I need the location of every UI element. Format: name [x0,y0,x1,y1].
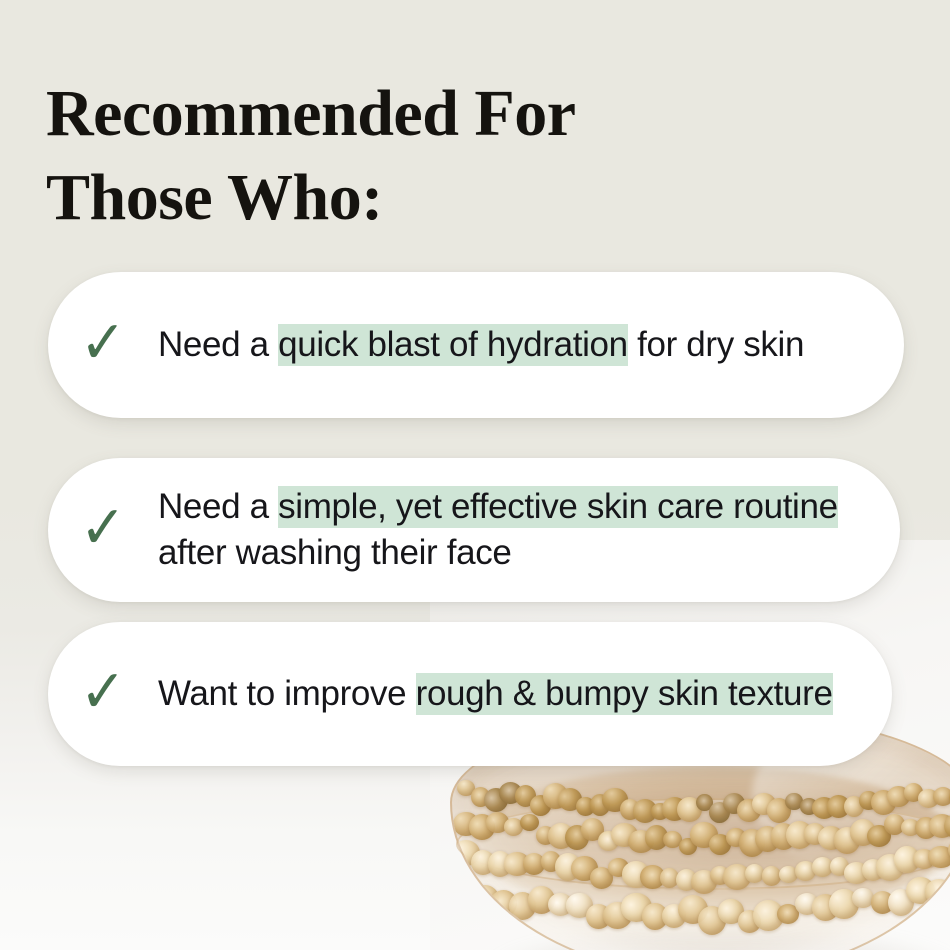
plain-phrase: Need a [158,325,278,364]
page-title-line-1: Recommended For [46,72,746,156]
benefit-card: ✓ Want to improve rough & bumpy skin tex… [48,622,892,766]
soybean [933,787,950,806]
check-mark-icon: ✓ [52,313,153,373]
plain-phrase: Need a [158,487,278,526]
plain-phrase: after washing their face [158,533,511,572]
highlighted-phrase: rough & bumpy skin texture [416,673,833,715]
benefit-text: Need a simple, yet effective skin care r… [158,484,900,576]
soybean [928,846,950,869]
check-mark-icon: ✓ [52,498,153,558]
plain-phrase: for dry skin [628,325,804,364]
benefit-card: ✓ Need a quick blast of hydration for dr… [48,272,904,418]
benefit-text: Need a quick blast of hydration for dry … [158,322,904,368]
page-title: Recommended For Those Who: [46,72,746,240]
plain-phrase: Want to improve [158,674,416,713]
highlighted-phrase: simple, yet effective skin care routine [278,486,838,528]
page-title-line-2: Those Who: [46,156,746,240]
highlighted-phrase: quick blast of hydration [278,324,628,366]
benefit-card: ✓ Need a simple, yet effective skin care… [48,458,900,602]
product-benefits-graphic: Recommended For Those Who: ✓ Need a quic… [0,0,950,950]
benefit-text: Want to improve rough & bumpy skin textu… [158,671,892,717]
check-mark-icon: ✓ [52,662,153,722]
